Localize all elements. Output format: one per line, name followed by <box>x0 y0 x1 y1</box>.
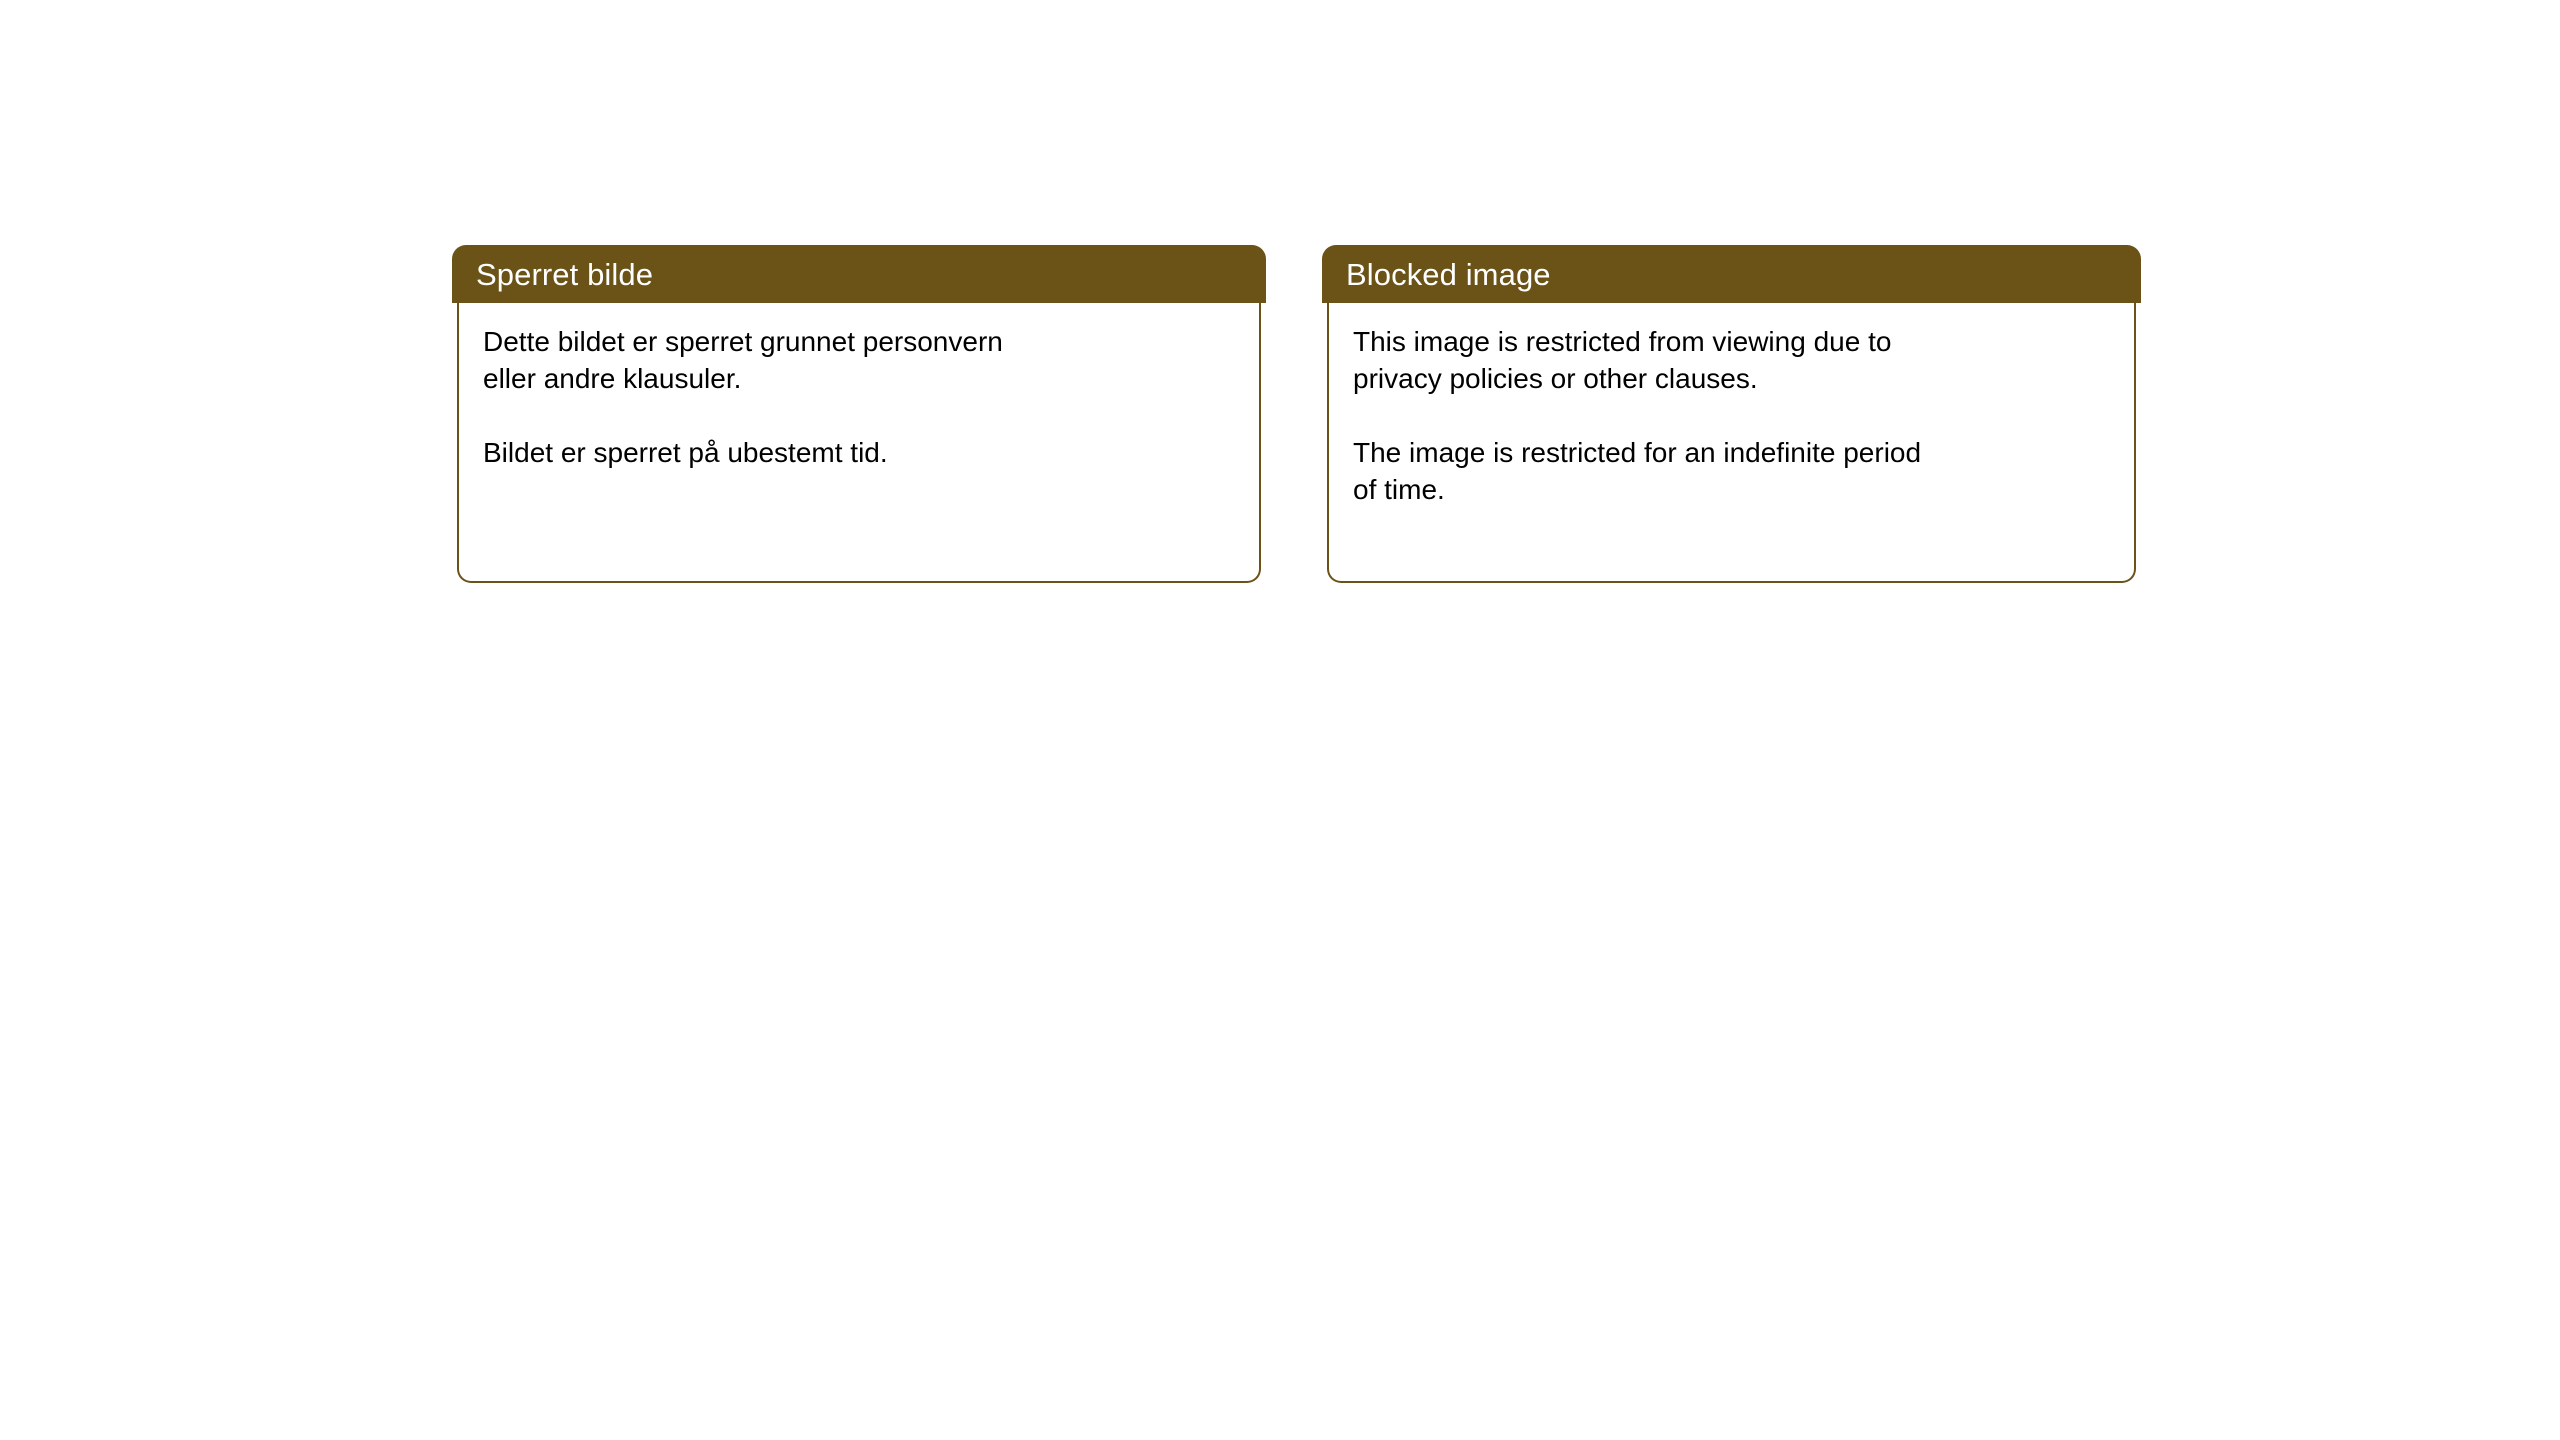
panel-paragraph-restriction-duration-norwegian: Bildet er sperret på ubestemt tid. <box>483 434 1243 471</box>
panel-title-norwegian: Sperret bilde <box>476 259 653 290</box>
panel-body-english: This image is restricted from viewing du… <box>1327 303 2136 583</box>
panel-paragraph-restriction-reason-norwegian: Dette bildet er sperret grunnet personve… <box>483 323 1243 397</box>
panel-header-norwegian: Sperret bilde <box>452 245 1266 303</box>
page-canvas: Sperret bilde Dette bildet er sperret gr… <box>0 0 2560 1440</box>
blocked-image-notice-panel-norwegian: Sperret bilde Dette bildet er sperret gr… <box>452 245 1266 583</box>
panel-title-english: Blocked image <box>1346 259 1551 290</box>
panel-paragraph-restriction-duration-english: The image is restricted for an indefinit… <box>1353 434 2118 508</box>
panel-body-norwegian: Dette bildet er sperret grunnet personve… <box>457 303 1261 583</box>
panel-header-english: Blocked image <box>1322 245 2141 303</box>
blocked-image-notice-panel-english: Blocked image This image is restricted f… <box>1322 245 2141 583</box>
panel-paragraph-restriction-reason-english: This image is restricted from viewing du… <box>1353 323 2118 397</box>
